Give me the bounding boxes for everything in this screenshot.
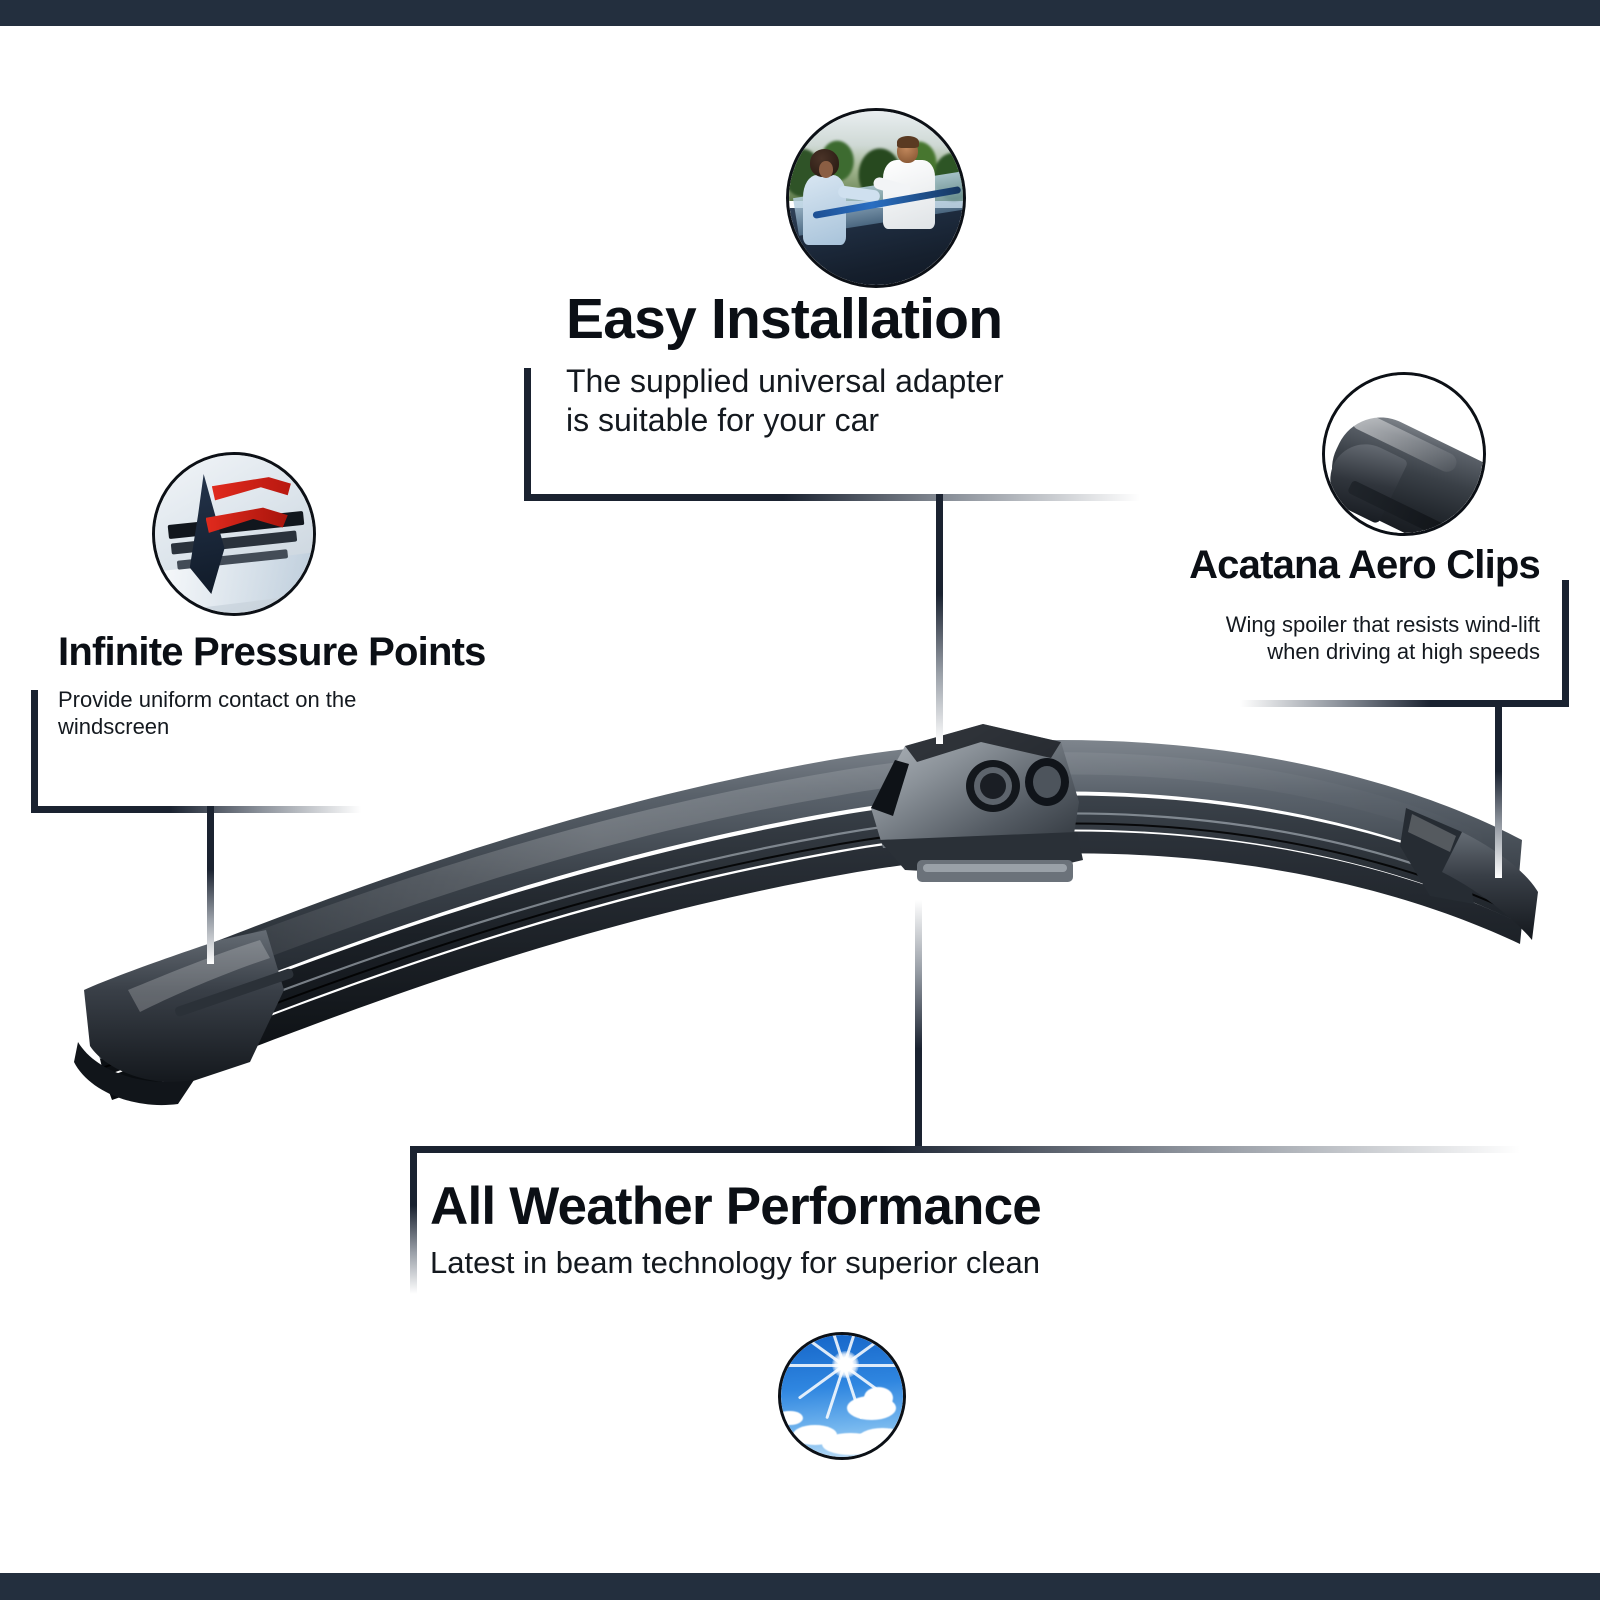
pressure-points-badge (152, 452, 316, 616)
product-image-wiper-blade (70, 690, 1540, 1110)
install-body: The supplied universal adapter is suitab… (566, 362, 1206, 440)
aero-body-line-2: when driving at high speeds (1267, 639, 1540, 664)
pressure-body-line-2: windscreen (58, 714, 169, 739)
aero-callout-drop-line (1495, 700, 1502, 878)
installation-photo-badge (786, 108, 966, 288)
install-body-line-2: is suitable for your car (566, 402, 879, 438)
callout-infinite-pressure-points: Infinite Pressure Points Provide uniform… (58, 632, 678, 740)
pressure-body: Provide uniform contact on the windscree… (58, 687, 678, 741)
aero-body: Wing spoiler that resists wind-lift when… (940, 612, 1540, 666)
weather-callout-left-rule (410, 1146, 417, 1294)
install-callout-left-rule (524, 368, 531, 500)
pressure-callout-drop-line (207, 806, 214, 964)
bottom-brand-bar (0, 1573, 1600, 1600)
top-brand-bar (0, 0, 1600, 26)
infographic-canvas: Easy Installation The supplied universal… (0, 0, 1600, 1600)
callout-easy-installation: Easy Installation The supplied universal… (566, 290, 1206, 440)
weather-body: Latest in beam technology for superior c… (430, 1244, 1310, 1282)
install-callout-bottom-rule (524, 494, 1140, 501)
callout-acatana-aero-clips: Acatana Aero Clips Wing spoiler that res… (940, 545, 1540, 665)
aero-callout-right-rule (1562, 580, 1569, 705)
aero-body-line-1: Wing spoiler that resists wind-lift (1226, 612, 1540, 637)
weather-callout-riser-line (915, 900, 922, 1148)
weather-callout-top-rule (410, 1146, 1520, 1153)
weather-heading: All Weather Performance (430, 1180, 1310, 1234)
pressure-body-line-1: Provide uniform contact on the (58, 687, 356, 712)
install-body-line-1: The supplied universal adapter (566, 363, 1004, 399)
pressure-heading: Infinite Pressure Points (58, 632, 678, 673)
aero-clip-badge (1322, 372, 1486, 536)
aero-callout-bottom-rule (1240, 700, 1569, 707)
pressure-callout-left-rule (31, 690, 38, 810)
aero-heading: Acatana Aero Clips (940, 545, 1540, 586)
install-heading: Easy Installation (566, 290, 1206, 348)
sunny-sky-badge (778, 1332, 906, 1460)
pressure-callout-bottom-rule (31, 806, 361, 813)
callout-all-weather-performance: All Weather Performance Latest in beam t… (430, 1180, 1310, 1282)
